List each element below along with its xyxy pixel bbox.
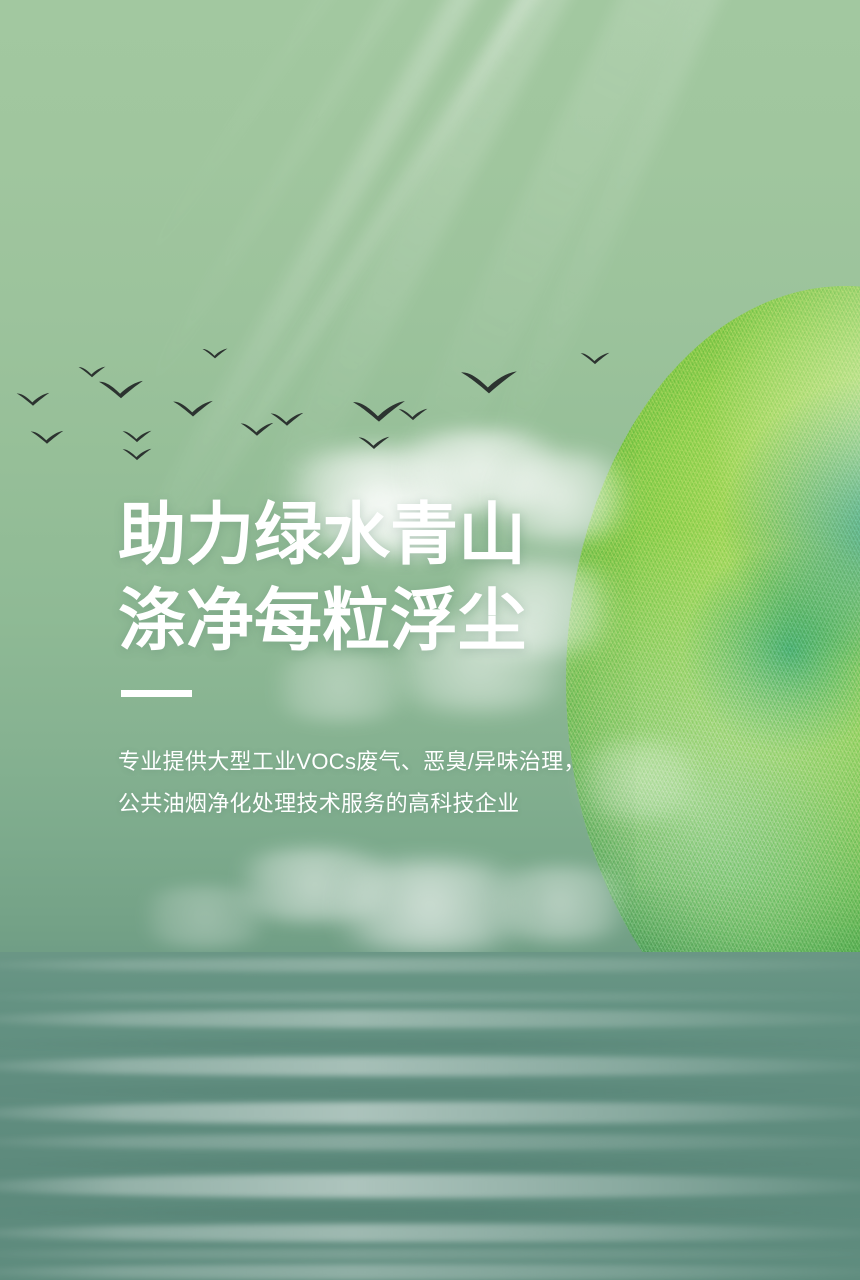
bird-icon bbox=[270, 412, 304, 428]
water-wave bbox=[0, 1174, 860, 1198]
bird-icon bbox=[240, 422, 274, 438]
water-wave bbox=[0, 992, 860, 1002]
water-wave bbox=[0, 1264, 860, 1280]
water-surface bbox=[0, 952, 860, 1280]
bird-icon bbox=[78, 366, 106, 379]
bird-icon bbox=[122, 430, 152, 444]
water-wave bbox=[0, 958, 860, 972]
banner-text-block: 助力绿水青山 涤净每粒浮尘 专业提供大型工业VOCs废气、恶臭/异味治理， 公共… bbox=[118, 492, 678, 822]
divider-bar bbox=[121, 690, 192, 697]
headline-line-2: 涤净每粒浮尘 bbox=[118, 578, 678, 664]
bird-icon bbox=[30, 430, 64, 446]
water-wave bbox=[0, 1134, 860, 1150]
bird-icon bbox=[16, 392, 50, 408]
water-wave bbox=[0, 1206, 860, 1220]
water-wave bbox=[0, 1056, 860, 1076]
water-wave bbox=[0, 1158, 860, 1170]
bird-icon bbox=[398, 408, 428, 422]
water-wave bbox=[0, 1224, 860, 1242]
water-wave bbox=[0, 1102, 860, 1124]
cloud bbox=[300, 860, 560, 952]
subtitle-line-1: 专业提供大型工业VOCs废气、恶臭/异味治理， bbox=[118, 744, 678, 780]
water-wave bbox=[0, 1038, 860, 1050]
bird-icon bbox=[202, 348, 228, 360]
bird-icon bbox=[358, 436, 390, 451]
light-ray bbox=[109, 0, 611, 313]
water-wave bbox=[0, 1248, 860, 1260]
bird-icon bbox=[172, 400, 214, 419]
banner-stage: 助力绿水青山 涤净每粒浮尘 专业提供大型工业VOCs废气、恶臭/异味治理， 公共… bbox=[0, 0, 860, 1280]
cloud bbox=[210, 848, 420, 922]
water-wave bbox=[0, 1084, 860, 1098]
headline-line-1: 助力绿水青山 bbox=[118, 492, 678, 578]
cloud bbox=[120, 886, 290, 948]
subtitle-line-2: 公共油烟净化处理技术服务的高科技企业 bbox=[118, 786, 678, 822]
bird-icon bbox=[98, 380, 144, 401]
bird-icon bbox=[352, 400, 406, 425]
bird-icon bbox=[122, 448, 152, 462]
water-wave bbox=[0, 1010, 860, 1028]
bird-icon bbox=[460, 370, 518, 397]
